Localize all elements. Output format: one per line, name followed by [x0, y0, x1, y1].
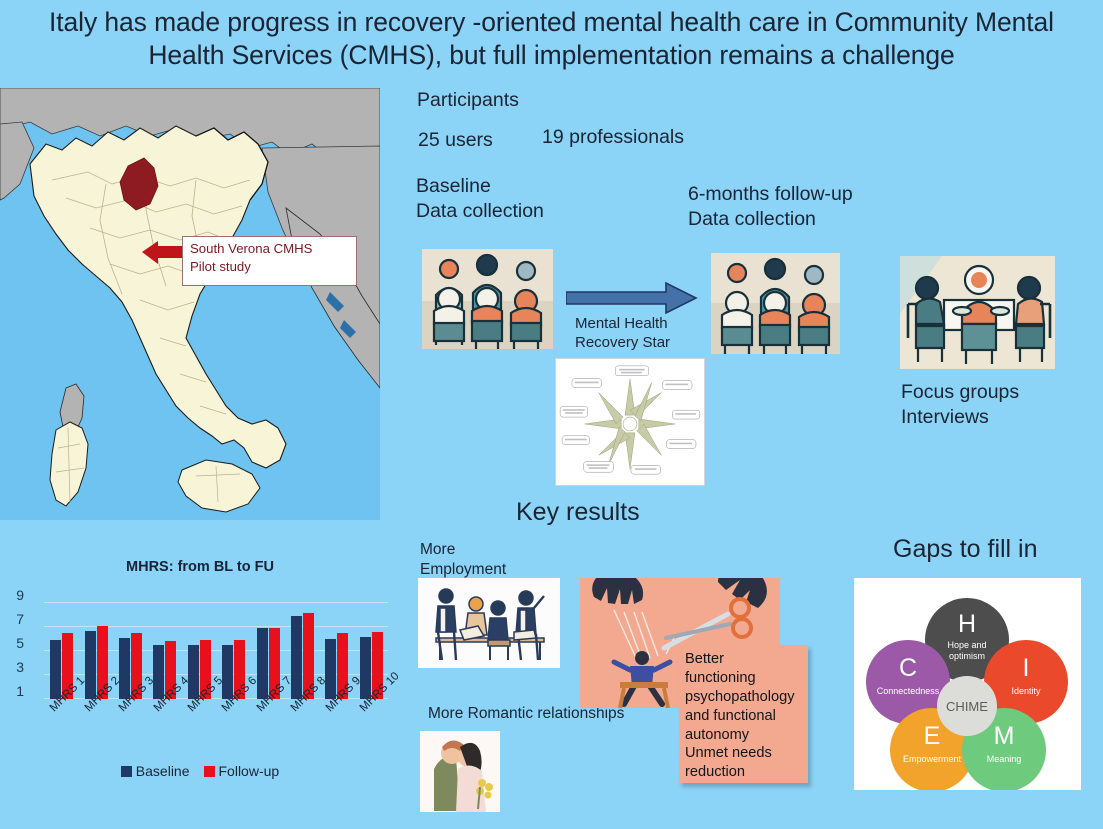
qualitative-methods-label: Focus groups Interviews	[901, 380, 1019, 431]
workplace-graphic	[418, 578, 560, 668]
baseline-label: Baseline Data collection	[416, 174, 544, 225]
chart-y-tick: 9	[0, 587, 24, 603]
gaps-heading: Gaps to fill in	[893, 533, 1038, 566]
chart-y-tick: 1	[0, 683, 24, 699]
map-callout-label: South Verona CMHS Pilot study	[182, 236, 357, 286]
participants-heading: Participants	[417, 88, 519, 113]
legend-label: Follow-up	[219, 763, 280, 779]
svg-text:C: C	[899, 654, 917, 682]
svg-text:Hope and: Hope and	[947, 640, 986, 650]
chart-legend-item[interactable]: Baseline	[121, 763, 190, 779]
svg-text:CHIME: CHIME	[946, 699, 988, 714]
seated-people-graphic	[422, 249, 553, 349]
participants-professionals: 19 professionals	[542, 125, 684, 150]
followup-label: 6-months follow-up Data collection	[688, 182, 853, 233]
chart-y-tick: 3	[0, 659, 24, 675]
chart-bar	[153, 645, 164, 699]
svg-text:E: E	[924, 722, 941, 750]
chart-legend-item[interactable]: Follow-up	[204, 763, 280, 779]
mhrs-bar-chart: MHRS: from BL to FU 13579MHRS 1MHRS 2MHR…	[0, 555, 400, 829]
chart-bar	[291, 616, 302, 699]
svg-text:H: H	[958, 610, 976, 638]
chart-y-tick: 7	[0, 611, 24, 627]
svg-text:Meaning: Meaning	[987, 754, 1022, 764]
chart-bar	[85, 631, 96, 699]
employment-illustration	[418, 578, 560, 668]
recovery-star-label: Mental Health Recovery Star	[575, 314, 670, 352]
callout-line-1: South Verona CMHS	[190, 240, 351, 258]
chart-legend: BaselineFollow-up	[0, 763, 400, 779]
couple-graphic	[420, 731, 500, 812]
legend-swatch	[121, 766, 132, 777]
poster-canvas: Italy has made progress in recovery -ori…	[0, 0, 1103, 829]
svg-text:Identity: Identity	[1011, 686, 1041, 696]
outcomes-textbox: Better functioning psychopathology and f…	[679, 645, 808, 783]
page-title: Italy has made progress in recovery -ori…	[14, 6, 1089, 73]
chime-framework-diagram: H Hope and optimism C Connectedness I Id…	[854, 578, 1081, 790]
seated-people-graphic-2	[711, 253, 840, 354]
focus-group-graphic	[900, 256, 1055, 369]
chart-bar	[325, 639, 336, 699]
romantic-couple-illustration	[420, 731, 500, 812]
svg-text:M: M	[994, 722, 1015, 750]
svg-text:Connectedness: Connectedness	[877, 686, 940, 696]
chart-y-tick: 5	[0, 635, 24, 651]
chart-bar	[257, 628, 268, 699]
map-graphic	[0, 88, 380, 520]
svg-text:optimism: optimism	[949, 651, 985, 661]
italy-map: South Verona CMHS Pilot study	[0, 88, 380, 520]
chart-title: MHRS: from BL to FU	[0, 559, 400, 575]
svg-text:Empowerment: Empowerment	[903, 754, 962, 764]
progress-arrow	[566, 281, 698, 315]
legend-swatch	[204, 766, 215, 777]
chart-gridline	[44, 602, 388, 603]
chart-bar	[360, 637, 371, 699]
svg-text:I: I	[1023, 654, 1030, 682]
chart-plot-area: 13579MHRS 1MHRS 2MHRS 3MHRS 4MHRS 5MHRS …	[44, 603, 388, 699]
recovery-star-graphic	[556, 359, 704, 485]
key-results-heading: Key results	[516, 496, 640, 529]
participants-users: 25 users	[418, 128, 493, 153]
chart-bar	[50, 640, 61, 699]
chart-bar	[119, 638, 130, 699]
legend-label: Baseline	[136, 763, 190, 779]
followup-participants-illustration	[711, 253, 840, 354]
focus-group-illustration	[900, 256, 1055, 369]
callout-line-2: Pilot study	[190, 258, 351, 276]
employment-label: More Employment	[420, 540, 506, 580]
recovery-star-image	[555, 358, 705, 486]
chime-graphic: H Hope and optimism C Connectedness I Id…	[854, 578, 1081, 790]
baseline-participants-illustration	[422, 249, 553, 349]
